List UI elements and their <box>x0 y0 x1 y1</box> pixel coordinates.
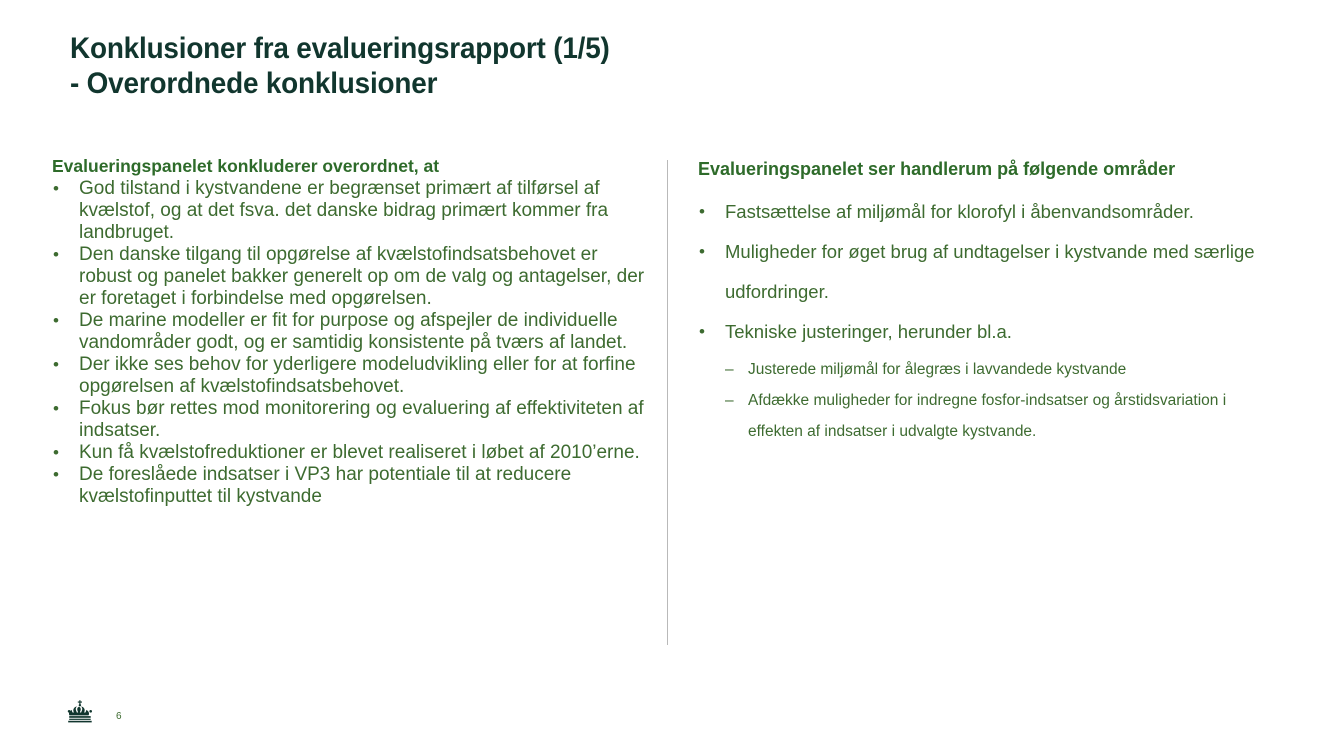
bullet-marker-icon: • <box>53 464 59 486</box>
list-item: • Muligheder for øget brug af undtagelse… <box>698 232 1268 312</box>
right-column-bullet-list: • Fastsættelse af miljømål for klorofyl … <box>698 192 1268 447</box>
list-item-text: Muligheder for øget brug af undtagelser … <box>725 241 1255 302</box>
list-item: • De marine modeller er fit for purpose … <box>52 310 652 354</box>
page-title: Konklusioner fra evalueringsrapport (1/5… <box>70 31 1047 101</box>
list-item-text: Kun få kvælstofreduktioner er blevet rea… <box>79 442 640 463</box>
dash-marker-icon: – <box>725 385 734 416</box>
bullet-marker-icon: • <box>699 232 705 272</box>
page-title-line-2: - Overordnede konklusioner <box>70 66 1047 101</box>
dash-marker-icon: – <box>725 354 734 385</box>
left-column-bullet-list: • God tilstand i kystvandene er begrænse… <box>52 178 652 508</box>
column-divider <box>667 160 668 645</box>
bullet-marker-icon: • <box>699 312 705 352</box>
list-item-text: Der ikke ses behov for yderligere modelu… <box>79 354 636 397</box>
sub-bullet-list: – Justerede miljømål for ålegræs i lavva… <box>725 354 1268 447</box>
list-item-text: Fokus bør rettes mod monitorering og eva… <box>79 398 644 441</box>
sub-list-item-text: Justerede miljømål for ålegræs i lavvand… <box>748 361 1126 378</box>
bullet-marker-icon: • <box>53 178 59 200</box>
bullet-marker-icon: • <box>53 244 59 266</box>
list-item-text: Tekniske justeringer, herunder bl.a. <box>725 321 1012 342</box>
bullet-marker-icon: • <box>53 442 59 464</box>
left-column: Evalueringspanelet konkluderer overordne… <box>52 156 652 508</box>
sub-list-item: – Justerede miljømål for ålegræs i lavva… <box>725 354 1268 385</box>
page-title-line-1: Konklusioner fra evalueringsrapport (1/5… <box>70 31 1047 66</box>
list-item-text: De marine modeller er fit for purpose og… <box>79 310 627 353</box>
list-item: • De foreslåede indsatser i VP3 har pote… <box>52 464 652 508</box>
bullet-marker-icon: • <box>53 354 59 376</box>
bullet-marker-icon: • <box>53 310 59 332</box>
list-item: • Fastsættelse af miljømål for klorofyl … <box>698 192 1268 232</box>
list-item-text: Den danske tilgang til opgørelse af kvæl… <box>79 244 644 309</box>
sub-list-item: – Afdække muligheder for indregne fosfor… <box>725 385 1268 447</box>
right-column-heading: Evalueringspanelet ser handlerum på følg… <box>698 158 1268 180</box>
presentation-slide: Konklusioner fra evalueringsrapport (1/5… <box>0 0 1333 750</box>
list-item: • Fokus bør rettes mod monitorering og e… <box>52 398 652 442</box>
list-item-text: Fastsættelse af miljømål for klorofyl i … <box>725 201 1194 222</box>
danish-royal-crown-icon <box>66 700 94 724</box>
list-item-text: God tilstand i kystvandene er begrænset … <box>79 178 608 243</box>
list-item: • Tekniske justeringer, herunder bl.a. –… <box>698 312 1268 447</box>
slide-footer: 6 <box>66 700 122 724</box>
list-item: • Kun få kvælstofreduktioner er blevet r… <box>52 442 652 464</box>
page-number: 6 <box>116 711 122 724</box>
list-item: • God tilstand i kystvandene er begrænse… <box>52 178 652 244</box>
bullet-marker-icon: • <box>53 398 59 420</box>
left-column-heading: Evalueringspanelet konkluderer overordne… <box>52 156 652 177</box>
bullet-marker-icon: • <box>699 192 705 232</box>
list-item-text: De foreslåede indsatser i VP3 har potent… <box>79 464 571 507</box>
list-item: • Den danske tilgang til opgørelse af kv… <box>52 244 652 310</box>
right-column: Evalueringspanelet ser handlerum på følg… <box>698 158 1268 447</box>
sub-list-item-text: Afdække muligheder for indregne fosfor-i… <box>748 392 1226 440</box>
list-item: • Der ikke ses behov for yderligere mode… <box>52 354 652 398</box>
